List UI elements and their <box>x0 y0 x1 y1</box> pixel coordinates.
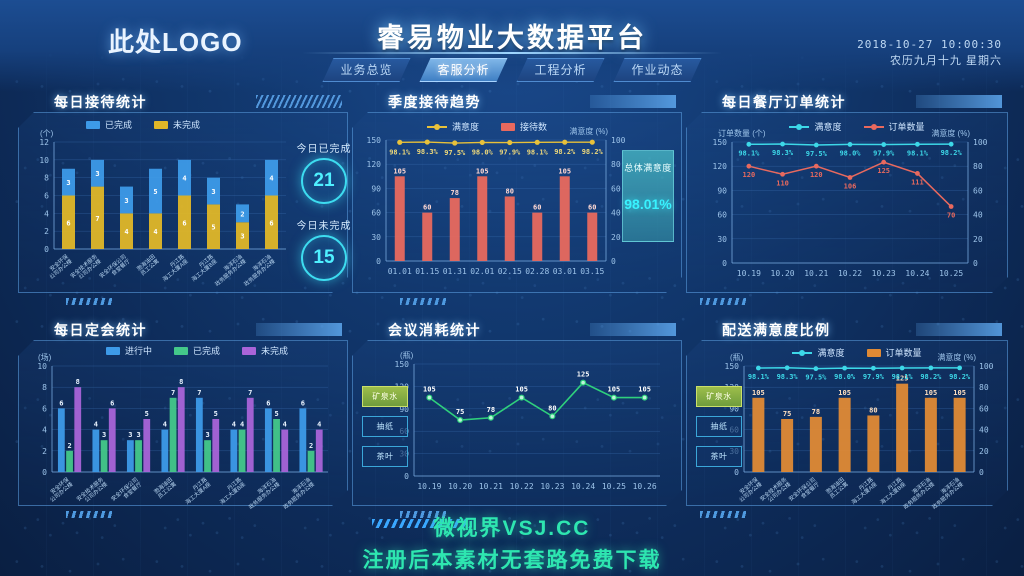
svg-text:4: 4 <box>94 421 98 429</box>
svg-text:40: 40 <box>979 426 989 435</box>
tab-work-dynamics[interactable]: 作业动态 <box>614 58 702 82</box>
legend-item-completed[interactable]: 已完成 <box>86 118 132 131</box>
svg-text:3: 3 <box>205 431 209 439</box>
legend-swatch-order-count <box>867 349 881 357</box>
svg-text:6: 6 <box>66 219 70 227</box>
svg-text:6: 6 <box>182 219 186 227</box>
svg-text:98.0%: 98.0% <box>472 148 494 156</box>
legend-label-incomplete: 未完成 <box>173 118 200 131</box>
kpi-value-today-incomplete: 15 <box>301 235 347 281</box>
legend-item-order-count[interactable]: 订单数量 <box>864 120 925 133</box>
svg-text:3: 3 <box>211 188 215 196</box>
svg-text:10.26: 10.26 <box>633 482 657 491</box>
svg-text:60: 60 <box>979 404 989 413</box>
legend-label-satisfaction: 满意度 <box>814 120 841 133</box>
svg-text:2: 2 <box>44 227 49 236</box>
svg-text:150: 150 <box>367 136 382 145</box>
legend-label-in-progress: 进行中 <box>125 344 152 357</box>
title-underline <box>302 52 722 54</box>
svg-text:10.21: 10.21 <box>479 482 503 491</box>
legend-item-satisfaction[interactable]: 满意度 <box>427 120 479 133</box>
legend-label-satisfaction: 满意度 <box>817 346 844 359</box>
svg-text:4: 4 <box>232 421 236 429</box>
legend-label-order-count: 订单数量 <box>889 120 925 133</box>
svg-text:5: 5 <box>214 410 218 418</box>
svg-text:110: 110 <box>776 179 789 187</box>
svg-text:97.9%: 97.9% <box>863 373 885 381</box>
chart-restaurant-orders: 满意度 订单数量 0306090120150020406080100订单数量 (… <box>686 92 1008 307</box>
svg-text:5: 5 <box>211 224 215 232</box>
svg-text:0: 0 <box>734 468 739 477</box>
svg-text:150: 150 <box>725 362 740 371</box>
svg-text:6: 6 <box>301 399 305 407</box>
svg-text:10.20: 10.20 <box>448 482 472 491</box>
svg-text:150: 150 <box>713 138 728 147</box>
legend-label-order-count: 订单数量 <box>886 346 922 359</box>
svg-text:0: 0 <box>376 257 381 266</box>
legend-item-satisfaction[interactable]: 满意度 <box>789 120 841 133</box>
svg-text:105: 105 <box>638 386 651 394</box>
svg-text:60: 60 <box>533 204 541 212</box>
legend-line-order-count <box>864 126 884 128</box>
svg-text:97.5%: 97.5% <box>805 374 827 382</box>
tab-engineering-analysis[interactable]: 工程分析 <box>517 58 605 82</box>
svg-text:01.01: 01.01 <box>388 267 412 276</box>
overall-satisfaction-box: 总体满意度 98.01% <box>622 150 674 242</box>
svg-text:0: 0 <box>404 472 409 481</box>
legend-line-satisfaction <box>789 126 809 128</box>
svg-text:10.19: 10.19 <box>417 482 441 491</box>
svg-text:6: 6 <box>110 399 114 407</box>
svg-text:7: 7 <box>171 389 175 397</box>
clock-datetime: 2018-10-27 10:00:30 <box>857 36 1002 53</box>
page-header: 此处LOGO 睿易物业大数据平台 业务总览 客服分析 工程分析 作业动态 201… <box>0 0 1024 92</box>
svg-text:105: 105 <box>393 167 406 175</box>
svg-text:105: 105 <box>953 389 966 397</box>
svg-text:6: 6 <box>269 219 273 227</box>
tab-business-overview[interactable]: 业务总览 <box>322 58 410 82</box>
svg-text:3: 3 <box>136 431 140 439</box>
svg-text:105: 105 <box>925 389 938 397</box>
kpi-today-incomplete: 今日未完成 15 <box>293 217 355 281</box>
svg-text:97.5%: 97.5% <box>806 150 828 158</box>
svg-text:105: 105 <box>558 167 571 175</box>
legend-item-completed[interactable]: 已完成 <box>174 344 220 357</box>
svg-text:10: 10 <box>37 362 47 371</box>
panel-quarter-trend: 季度接待趋势 满意度 接待数 0306090120150020406080100… <box>352 92 682 307</box>
svg-text:10.23: 10.23 <box>540 482 564 491</box>
svg-text:0: 0 <box>979 468 984 477</box>
svg-text:10.24: 10.24 <box>571 482 595 491</box>
svg-text:7: 7 <box>248 389 252 397</box>
svg-text:98.2%: 98.2% <box>554 148 576 156</box>
svg-text:78: 78 <box>812 408 820 416</box>
svg-text:01.15: 01.15 <box>415 267 439 276</box>
legend-swatch-in-progress <box>106 347 120 355</box>
legend-item-reception-count[interactable]: 接待数 <box>501 120 547 133</box>
svg-text:3: 3 <box>240 233 244 241</box>
svg-text:111: 111 <box>911 178 924 186</box>
svg-text:60: 60 <box>423 204 431 212</box>
svg-text:98.1%: 98.1% <box>907 149 929 157</box>
svg-text:0: 0 <box>611 257 616 266</box>
svg-text:10.19: 10.19 <box>737 269 761 278</box>
kpi-today-completed: 今日已完成 21 <box>293 140 355 204</box>
panel-meeting-consumption: 会议消耗统计 0306090120150(瓶)10575781058012510… <box>352 320 682 520</box>
svg-text:105: 105 <box>608 386 621 394</box>
svg-text:03.01: 03.01 <box>553 267 577 276</box>
svg-text:6: 6 <box>59 399 63 407</box>
svg-text:98.3%: 98.3% <box>772 149 794 157</box>
svg-text:2: 2 <box>67 442 71 450</box>
svg-text:98.1%: 98.1% <box>389 148 411 156</box>
svg-text:60: 60 <box>611 184 621 193</box>
svg-text:120: 120 <box>743 171 756 179</box>
svg-text:4: 4 <box>163 421 167 429</box>
svg-text:3: 3 <box>128 431 132 439</box>
svg-text:0: 0 <box>44 245 49 254</box>
legend-label-satisfaction: 满意度 <box>452 120 479 133</box>
legend-swatch-reception-count <box>501 123 515 131</box>
main-nav: 业务总览 客服分析 工程分析 作业动态 <box>322 58 701 82</box>
svg-text:20: 20 <box>973 235 983 244</box>
svg-text:90: 90 <box>717 186 727 195</box>
legend-label-completed: 已完成 <box>193 344 220 357</box>
svg-text:4: 4 <box>182 175 186 183</box>
overall-satisfaction-value: 98.01% <box>623 196 673 212</box>
svg-text:30: 30 <box>717 235 727 244</box>
panel-daily-reception: 每日接待统计 已完成 未完成 024681012(个)6373434564533… <box>18 92 348 307</box>
svg-text:125: 125 <box>577 371 590 379</box>
svg-text:80: 80 <box>611 160 621 169</box>
svg-text:105: 105 <box>476 167 489 175</box>
legend-label-completed: 已完成 <box>105 118 132 131</box>
svg-text:20: 20 <box>611 233 621 242</box>
svg-text:125: 125 <box>877 167 890 175</box>
svg-text:20: 20 <box>979 447 989 456</box>
svg-text:75: 75 <box>456 408 464 416</box>
svg-text:6: 6 <box>44 192 49 201</box>
svg-text:100: 100 <box>979 362 994 371</box>
button-tea[interactable]: 茶叶 <box>696 446 742 467</box>
svg-text:40: 40 <box>973 211 983 220</box>
legend-item-order-count[interactable]: 订单数量 <box>867 346 922 359</box>
svg-text:97.5%: 97.5% <box>444 149 466 157</box>
kpi-label-today-incomplete: 今日未完成 <box>293 217 355 232</box>
svg-text:4: 4 <box>269 175 273 183</box>
svg-text:8: 8 <box>179 378 183 386</box>
svg-text:30: 30 <box>371 233 381 242</box>
svg-text:6: 6 <box>266 399 270 407</box>
svg-text:60: 60 <box>588 204 596 212</box>
svg-text:98.1%: 98.1% <box>892 373 914 381</box>
svg-text:10.25: 10.25 <box>602 482 626 491</box>
svg-text:10.22: 10.22 <box>838 269 862 278</box>
svg-text:3: 3 <box>102 431 106 439</box>
legend-quarter-trend: 满意度 接待数 <box>322 120 652 133</box>
legend-item-in-progress[interactable]: 进行中 <box>106 344 152 357</box>
svg-text:60: 60 <box>371 209 381 218</box>
svg-text:8: 8 <box>76 378 80 386</box>
svg-text:02.28: 02.28 <box>525 267 549 276</box>
svg-text:8: 8 <box>44 174 49 183</box>
svg-text:80: 80 <box>869 406 877 414</box>
svg-text:0: 0 <box>722 259 727 268</box>
button-tissue[interactable]: 抽纸 <box>696 416 742 437</box>
svg-text:105: 105 <box>515 386 528 394</box>
svg-text:40: 40 <box>611 209 621 218</box>
svg-text:02.15: 02.15 <box>498 267 522 276</box>
svg-text:106: 106 <box>844 182 857 190</box>
svg-text:2: 2 <box>309 442 313 450</box>
svg-text:150: 150 <box>395 360 410 369</box>
svg-text:01.31: 01.31 <box>443 267 467 276</box>
button-mineral-water[interactable]: 矿泉水 <box>362 386 408 407</box>
svg-text:98.0%: 98.0% <box>834 373 856 381</box>
chart-daily-meetings: 进行中 已完成 未完成 0246810(场)628436335478735447… <box>18 320 348 520</box>
svg-text:6: 6 <box>42 404 47 413</box>
svg-text:10.23: 10.23 <box>872 269 896 278</box>
svg-text:120: 120 <box>810 171 823 179</box>
svg-text:4: 4 <box>153 228 157 236</box>
legend-swatch-completed <box>86 121 100 129</box>
svg-text:03.15: 03.15 <box>580 267 604 276</box>
svg-text:60: 60 <box>973 186 983 195</box>
svg-text:3: 3 <box>95 170 99 178</box>
svg-text:0: 0 <box>42 468 47 477</box>
svg-text:4: 4 <box>240 421 244 429</box>
svg-text:10.22: 10.22 <box>510 482 534 491</box>
legend-daily-reception: 已完成 未完成 <box>0 118 308 131</box>
svg-text:0: 0 <box>973 259 978 268</box>
svg-text:78: 78 <box>451 189 459 197</box>
svg-text:90: 90 <box>371 184 381 193</box>
legend-item-incomplete[interactable]: 未完成 <box>242 344 288 357</box>
legend-swatch-incomplete <box>242 347 256 355</box>
overall-satisfaction-label: 总体满意度 <box>623 161 673 174</box>
legend-line-satisfaction <box>427 126 447 128</box>
tab-customer-service-analysis[interactable]: 客服分析 <box>419 58 507 82</box>
svg-text:10.21: 10.21 <box>804 269 828 278</box>
button-mineral-water[interactable]: 矿泉水 <box>696 386 742 407</box>
svg-text:75: 75 <box>783 410 791 418</box>
svg-text:98.1%: 98.1% <box>738 149 760 157</box>
clock-lunar-date: 农历九月十九 星期六 <box>857 53 1002 70</box>
svg-text:98.2%: 98.2% <box>949 373 971 381</box>
legend-item-satisfaction[interactable]: 满意度 <box>792 346 844 359</box>
legend-label-reception-count: 接待数 <box>520 120 547 133</box>
clock: 2018-10-27 10:00:30 农历九月十九 星期六 <box>857 36 1002 70</box>
svg-text:5: 5 <box>145 410 149 418</box>
svg-text:120: 120 <box>367 160 382 169</box>
svg-text:98.3%: 98.3% <box>777 373 799 381</box>
watermark-line-1: 微视界VSJ.CC <box>0 512 1024 542</box>
delivery-category-buttons: 矿泉水 抽纸 茶叶 <box>696 386 742 467</box>
svg-text:78: 78 <box>487 406 495 414</box>
svg-text:60: 60 <box>717 211 727 220</box>
svg-text:80: 80 <box>548 404 556 412</box>
svg-text:105: 105 <box>423 386 436 394</box>
svg-text:4: 4 <box>283 421 287 429</box>
legend-daily-meetings: 进行中 已完成 未完成 <box>32 344 362 357</box>
svg-text:80: 80 <box>973 162 983 171</box>
svg-text:98.0%: 98.0% <box>839 149 861 157</box>
svg-text:98.2%: 98.2% <box>941 149 963 157</box>
svg-text:12: 12 <box>39 138 49 147</box>
svg-text:(瓶): (瓶) <box>400 350 414 360</box>
legend-swatch-completed <box>174 347 188 355</box>
svg-text:02.01: 02.01 <box>470 267 494 276</box>
svg-text:100: 100 <box>973 138 988 147</box>
svg-text:5: 5 <box>274 410 278 418</box>
svg-text:80: 80 <box>506 187 514 195</box>
legend-label-incomplete: 未完成 <box>261 344 288 357</box>
svg-text:4: 4 <box>44 209 49 218</box>
svg-text:10.25: 10.25 <box>939 269 963 278</box>
panel-delivery-satisfaction: 配送满意度比例 满意度 订单数量 03060901201500204060801… <box>686 320 1008 520</box>
svg-text:105: 105 <box>838 389 851 397</box>
legend-delivery-satisfaction: 满意度 订单数量 <box>696 346 1018 359</box>
svg-text:97.9%: 97.9% <box>873 150 895 158</box>
svg-text:70: 70 <box>947 212 955 220</box>
svg-text:98.2%: 98.2% <box>920 373 942 381</box>
svg-text:98.2%: 98.2% <box>582 148 604 156</box>
svg-text:2: 2 <box>42 447 47 456</box>
legend-line-satisfaction <box>792 352 812 354</box>
svg-text:98.1%: 98.1% <box>748 373 770 381</box>
svg-text:80: 80 <box>979 383 989 392</box>
svg-text:4: 4 <box>42 426 47 435</box>
svg-text:5: 5 <box>153 188 157 196</box>
svg-text:8: 8 <box>42 383 47 392</box>
svg-text:97.9%: 97.9% <box>499 149 521 157</box>
panel-restaurant-orders: 每日餐厅订单统计 满意度 订单数量 0306090120150020406080… <box>686 92 1008 307</box>
panel-daily-meetings: 每日定会统计 进行中 已完成 未完成 0246810(场)62843633547… <box>18 320 348 520</box>
svg-text:7: 7 <box>95 215 99 223</box>
kpi-label-today-completed: 今日已完成 <box>293 140 355 155</box>
legend-swatch-incomplete <box>154 121 168 129</box>
watermark-line-2: 注册后本素材无套路免费下载 <box>0 544 1024 574</box>
svg-text:98.1%: 98.1% <box>527 148 549 156</box>
svg-text:4: 4 <box>124 228 128 236</box>
svg-text:3: 3 <box>66 179 70 187</box>
legend-restaurant-orders: 满意度 订单数量 <box>696 120 1018 133</box>
svg-text:2: 2 <box>240 210 244 218</box>
svg-text:10.24: 10.24 <box>905 269 929 278</box>
button-tea[interactable]: 茶叶 <box>362 446 408 467</box>
svg-text:7: 7 <box>197 389 201 397</box>
svg-text:98.3%: 98.3% <box>417 148 439 156</box>
consumption-category-buttons: 矿泉水 抽纸 茶叶 <box>362 386 408 467</box>
button-tissue[interactable]: 抽纸 <box>362 416 408 437</box>
legend-item-incomplete[interactable]: 未完成 <box>154 118 200 131</box>
svg-text:105: 105 <box>752 389 765 397</box>
svg-text:4: 4 <box>317 421 321 429</box>
svg-text:10.20: 10.20 <box>771 269 795 278</box>
svg-text:120: 120 <box>713 162 728 171</box>
svg-text:100: 100 <box>611 136 626 145</box>
svg-text:10: 10 <box>39 156 49 165</box>
kpi-value-today-completed: 21 <box>301 158 347 204</box>
svg-text:3: 3 <box>124 197 128 205</box>
